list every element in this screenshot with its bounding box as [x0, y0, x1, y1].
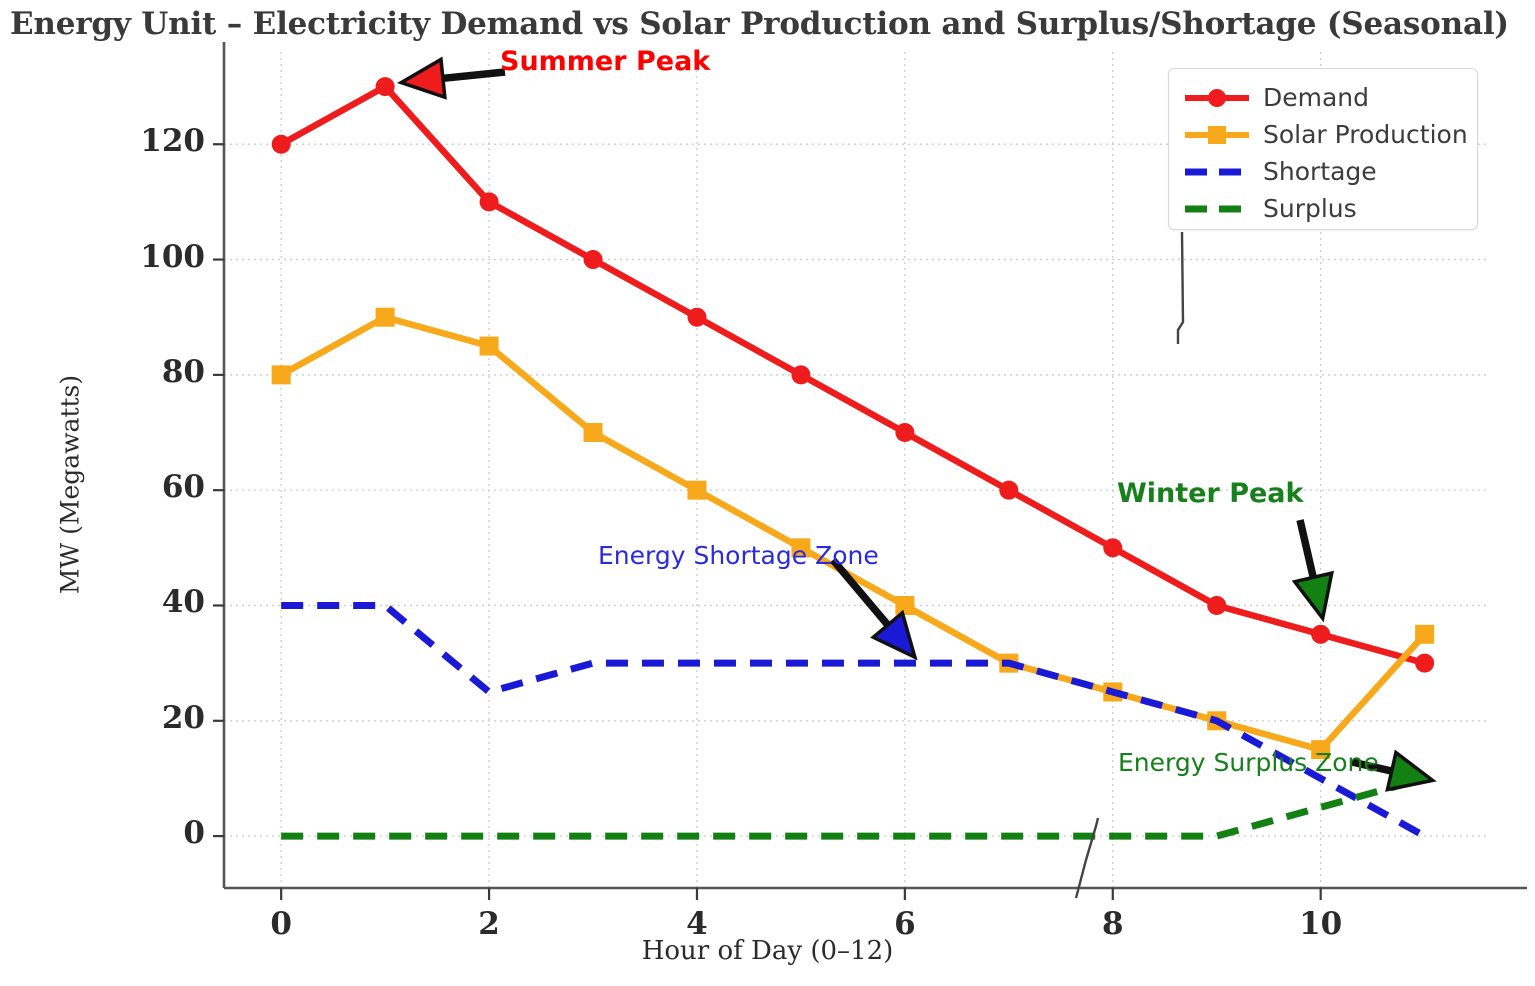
stray-leader-line-legend: [1178, 232, 1183, 344]
data-point-demand: [376, 77, 395, 96]
y-axis-tick-label: 0: [85, 815, 205, 851]
data-point-solar-production: [376, 308, 395, 327]
annotation-summer-peak: Summer Peak: [500, 46, 710, 77]
y-axis-tick-label: 40: [85, 584, 205, 620]
data-point-solar-production: [687, 481, 706, 500]
legend[interactable]: Demand Solar Production Shortage Surplus: [1168, 68, 1478, 230]
annotation-winter-peak: Winter Peak: [1117, 478, 1303, 509]
series-line-surplus: [281, 778, 1424, 836]
arrow-winter-peak-head: [1295, 573, 1332, 618]
data-point-solar-production: [272, 365, 291, 384]
legend-item-shortage[interactable]: Shortage: [1169, 153, 1477, 190]
legend-key-surplus-icon: [1183, 199, 1251, 219]
data-point-demand: [1207, 596, 1226, 615]
y-axis-label: MW (Megawatts): [56, 355, 85, 615]
x-axis-tick-label: 0: [241, 906, 321, 942]
chart-canvas: Energy Unit – Electricity Demand vs Sola…: [0, 0, 1535, 986]
x-axis-tick-label: 2: [449, 906, 529, 942]
arrow-winter-peak-shaft: [1300, 520, 1315, 583]
legend-item-demand[interactable]: Demand: [1169, 79, 1477, 116]
data-point-demand: [584, 250, 603, 269]
y-axis-tick-label: 80: [85, 354, 205, 390]
data-point-demand: [1103, 538, 1122, 557]
y-axis-tick-label: 100: [85, 239, 205, 275]
legend-item-surplus[interactable]: Surplus: [1169, 190, 1477, 227]
data-point-demand: [1415, 654, 1434, 673]
x-axis-tick-label: 6: [865, 906, 945, 942]
legend-label-surplus: Surplus: [1263, 194, 1357, 223]
data-point-solar-production: [1415, 625, 1434, 644]
series-line-solar-production: [281, 317, 1424, 749]
legend-key-demand-icon: [1183, 88, 1251, 108]
data-point-solar-production: [480, 337, 499, 356]
legend-label-demand: Demand: [1263, 83, 1369, 112]
data-point-demand: [1311, 625, 1330, 644]
x-axis-tick-label: 10: [1281, 906, 1361, 942]
x-axis-tick-label: 8: [1073, 906, 1153, 942]
data-point-demand: [687, 308, 706, 327]
arrow-summer-peak-head: [401, 59, 445, 97]
annotation-shortage-zone: Energy Shortage Zone: [598, 541, 879, 570]
stray-leader-line-axis: [1076, 818, 1098, 898]
data-point-demand: [272, 135, 291, 154]
arrow-surplus-zone-head: [1387, 753, 1432, 790]
legend-key-solar-production-icon: [1183, 125, 1251, 145]
annotation-surplus-zone: Energy Surplus Zone: [1118, 748, 1379, 777]
data-point-demand: [480, 192, 499, 211]
legend-key-shortage-icon: [1183, 162, 1251, 182]
data-point-solar-production: [584, 423, 603, 442]
legend-label-shortage: Shortage: [1263, 157, 1377, 186]
y-axis-tick-label: 20: [85, 700, 205, 736]
y-axis-tick-label: 60: [85, 469, 205, 505]
y-axis-tick-label: 120: [85, 123, 205, 159]
data-point-solar-production: [895, 596, 914, 615]
legend-label-solar-production: Solar Production: [1263, 120, 1468, 149]
arrow-summer-peak-shaft: [437, 72, 505, 79]
data-point-demand: [895, 423, 914, 442]
data-point-demand: [999, 481, 1018, 500]
x-axis-tick-label: 4: [657, 906, 737, 942]
data-point-demand: [791, 365, 810, 384]
legend-item-solar-production[interactable]: Solar Production: [1169, 116, 1477, 153]
